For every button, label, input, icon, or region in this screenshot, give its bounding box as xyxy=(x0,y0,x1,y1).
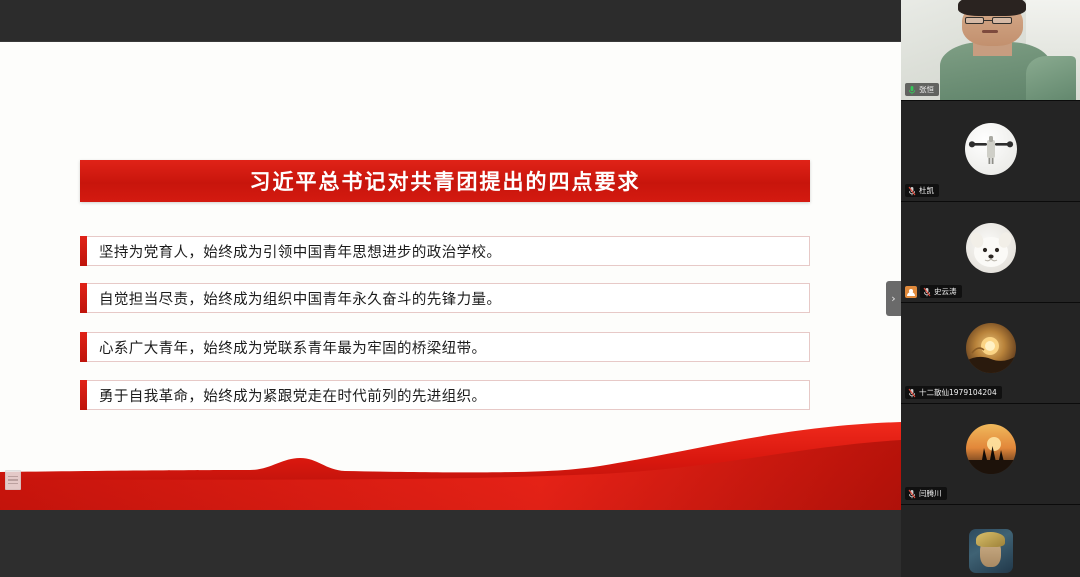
page-title: 习近平总书记对共青团提出的四点要求 xyxy=(250,166,641,196)
dog-photo xyxy=(966,223,1016,273)
participant-name: 张恒 xyxy=(919,83,934,96)
bullet-text: 自觉担当尽责，始终成为组织中国青年永久奋斗的先锋力量。 xyxy=(99,288,501,309)
bullet-text: 心系广大青年，始终成为党联系青年最为牢固的桥梁纽带。 xyxy=(99,337,486,358)
bullet-text: 坚持为党育人，始终成为引领中国青年思想进步的政治学校。 xyxy=(99,241,501,262)
participant-nameplate: 张恒 xyxy=(905,83,939,96)
slide-list-menu-icon[interactable] xyxy=(5,470,21,490)
participant-tile[interactable]: 十二散仙1979104204 xyxy=(901,303,1080,404)
participant-name: 史云涛 xyxy=(934,285,957,298)
bullet-accent-bar xyxy=(80,332,87,362)
participant-tile[interactable] xyxy=(901,505,1080,577)
list-item: 自觉担当尽责，始终成为组织中国青年永久奋斗的先锋力量。 xyxy=(80,283,810,313)
participant-filmstrip[interactable]: 张恒 xyxy=(901,0,1080,577)
participant-tile[interactable]: 史云涛 xyxy=(901,202,1080,303)
list-item: 心系广大青年，始终成为党联系青年最为牢固的桥梁纽带。 xyxy=(80,332,810,362)
participant-name: 闫腾川 xyxy=(919,487,942,500)
mic-on-icon xyxy=(908,85,916,95)
chevron-right-glyph: › xyxy=(891,292,895,305)
participant-tile[interactable]: 闫腾川 xyxy=(901,404,1080,505)
mic-off-icon xyxy=(908,388,916,398)
sunset-photo xyxy=(966,424,1016,474)
presentation-slide: 习近平总书记对共青团提出的四点要求 坚持为党育人，始终成为引领中国青年思想进步的… xyxy=(0,42,901,510)
slide-title-banner: 习近平总书记对共青团提出的四点要求 xyxy=(80,160,810,202)
slide-ribbon-decoration xyxy=(0,400,901,510)
participant-tile[interactable]: 杜凯 xyxy=(901,101,1080,202)
stage-top-bar xyxy=(0,0,901,42)
drone-glyph xyxy=(965,123,1017,175)
participant-name: 杜凯 xyxy=(919,184,934,197)
mic-off-icon xyxy=(923,287,931,297)
participant-nameplate: 十二散仙1979104204 xyxy=(905,386,1002,399)
participant-nameplate: 史云涛 xyxy=(920,285,962,298)
participant-nameplate: 闫腾川 xyxy=(905,487,947,500)
meeting-screen-share-window: 习近平总书记对共青团提出的四点要求 坚持为党育人，始终成为引领中国青年思想进步的… xyxy=(0,0,1080,577)
panel-collapse-chevron-right-icon[interactable]: › xyxy=(886,281,901,316)
portrait-avatar xyxy=(901,505,1080,577)
participant-tile[interactable]: 张恒 xyxy=(901,0,1080,101)
sunrise-photo xyxy=(966,323,1016,373)
mic-off-icon xyxy=(908,186,916,196)
list-item: 坚持为党育人，始终成为引领中国青年思想进步的政治学校。 xyxy=(80,236,810,266)
participant-name: 十二散仙1979104204 xyxy=(919,386,997,399)
mic-off-icon xyxy=(908,489,916,499)
shared-content-stage: 习近平总书记对共青团提出的四点要求 坚持为党育人，始终成为引领中国青年思想进步的… xyxy=(0,0,901,577)
bullet-accent-bar xyxy=(80,283,87,313)
bullet-accent-bar xyxy=(80,236,87,266)
participant-nameplate: 杜凯 xyxy=(905,184,939,197)
user-avatar-badge-icon xyxy=(905,286,917,298)
